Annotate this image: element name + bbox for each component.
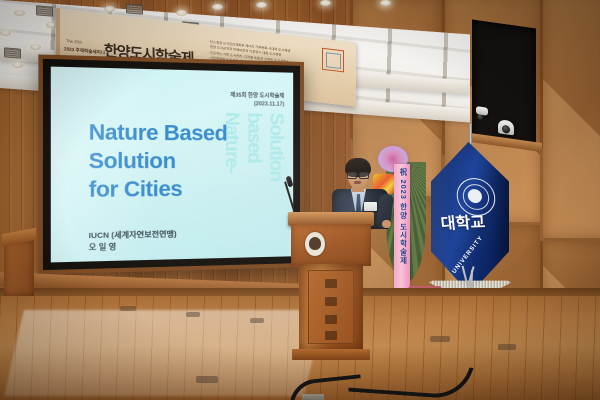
slide-author-name: 오 일 영: [89, 240, 177, 253]
wreath-ribbon: 祝 2023 한양 도시학술제: [394, 164, 410, 300]
flag-english-text: UNIVERSITY: [451, 235, 484, 275]
ceiling-downlight: [176, 10, 187, 16]
conference-hall-photo: The 35th 2023 주제학술세미나 한양대학교 핵심역량강화사업 4차 …: [0, 0, 600, 400]
presenter-name-tag: [364, 202, 377, 211]
ceiling-downlight: [30, 44, 41, 50]
slide-watermark: Nature- based Solution: [221, 112, 286, 182]
podium-front-panel: [291, 224, 371, 266]
ceiling-downlight: [14, 10, 25, 16]
floor-mark: [430, 336, 450, 342]
watermark-column: based: [243, 112, 263, 181]
presenter-mouth: [354, 181, 361, 184]
ceiling-air-vent: [36, 5, 53, 16]
stage-wooden-box: [4, 240, 34, 296]
podium-base: [292, 349, 370, 360]
lectern-podium: [288, 212, 374, 360]
banner-logo-icon: [322, 48, 344, 73]
glasses-icon: [347, 172, 369, 177]
ceiling-downlight: [256, 2, 267, 8]
floor-mark: [186, 312, 200, 317]
ceiling-air-vent: [4, 47, 21, 58]
slide-title: Nature Based Solution for Cities: [89, 118, 228, 204]
podium-engraving: [325, 297, 337, 306]
projector-light-pool: [4, 310, 324, 396]
floor-mark: [120, 306, 136, 311]
ceiling-downlight: [212, 4, 223, 10]
flag-korean-text: 대학교: [440, 215, 502, 232]
ceiling-downlight: [12, 62, 23, 68]
screen-bezel: Nature- based Solution 제35회 한양 도시학술제 (20…: [43, 59, 300, 270]
slide-title-line3: for Cities: [89, 175, 228, 204]
slide-author-org: IUCN (세계자연보전연맹): [89, 228, 177, 241]
slide-header: 제35회 한양 도시학술제 (2023.11.17): [230, 92, 284, 109]
presentation-slide: Nature- based Solution 제35회 한양 도시학술제 (20…: [51, 67, 293, 263]
podium-inner-panel: [308, 270, 354, 344]
podium-engraving: [325, 315, 337, 324]
floor-outlet-plate: [302, 394, 324, 400]
projection-screen-frame: Nature- based Solution 제35회 한양 도시학술제 (20…: [38, 54, 304, 274]
podium-engraving: [325, 279, 337, 288]
ceiling-downlight: [0, 30, 11, 36]
podium-body: [299, 264, 363, 350]
floor-mark: [196, 376, 218, 383]
university-crest-icon: [305, 232, 325, 256]
slide-header-line2: (2023.11.17): [230, 100, 284, 109]
floor-mark: [250, 318, 264, 323]
podium-engraving: [325, 331, 337, 340]
ceiling-downlight: [380, 0, 391, 6]
banner-subtitle-en: The 35th: [66, 38, 82, 45]
ceiling-downlight: [320, 0, 331, 6]
seal-center: [467, 189, 483, 203]
slide-title-line1: Nature Based: [89, 118, 228, 147]
floor-mark: [498, 344, 516, 350]
wreath-ribbon-text: 祝 2023 한양 도시학술제: [394, 168, 410, 265]
presenter-hand: [382, 220, 391, 228]
slide-title-line2: Solution: [89, 147, 228, 176]
university-seal-icon: [455, 178, 498, 216]
ceiling-air-vent: [126, 3, 143, 14]
slide-author: IUCN (세계자연보전연맹) 오 일 영: [89, 228, 177, 253]
watermark-column: Solution: [265, 112, 285, 181]
camera-lens-icon: [477, 114, 484, 120]
ceiling-downlight: [104, 6, 115, 12]
